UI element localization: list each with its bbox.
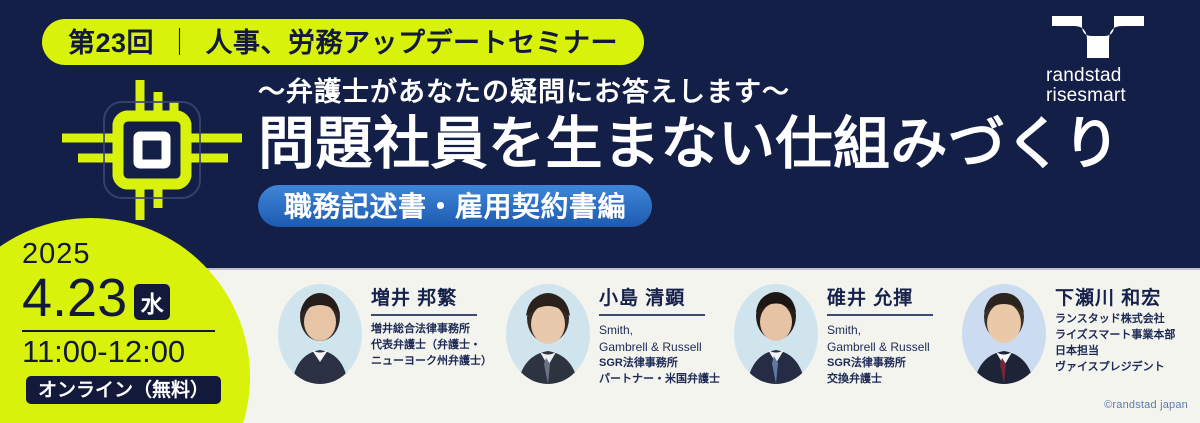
speaker-info: 下瀬川 和宏 ランスタッド株式会社 ライズスマート事業本部 日本担当 ヴァイスプ… xyxy=(1055,272,1175,376)
speaker-card: 碓井 允揮 Smith, Gambrell & Russell SGR法律事務所… xyxy=(734,272,962,423)
speaker-org-line: 増井総合法律事務所 xyxy=(371,322,492,338)
circuit-chip-icon xyxy=(62,80,242,220)
speaker-name: 増井 邦繁 xyxy=(371,289,492,308)
speaker-avatar xyxy=(278,284,362,384)
logo-product: risesmart xyxy=(1046,86,1178,106)
speaker-org-line: 交換弁護士 xyxy=(827,372,933,388)
speaker-avatar xyxy=(734,284,818,384)
logo-brand: randstad xyxy=(1046,66,1178,86)
seminar-banner: 第23回 ｜ 人事、労務アップデートセミナー ～弁護士が xyxy=(0,0,1200,423)
speaker-org-line: ランスタッド株式会社 xyxy=(1055,312,1175,328)
headline-subtopic-badge: 職務記述書・雇用契約書編 xyxy=(258,185,652,227)
speaker-info: 増井 邦繁 増井総合法律事務所 代表弁護士（弁護士・ ニューヨーク州弁護士） xyxy=(371,272,492,370)
speaker-org-line: 日本担当 xyxy=(1055,344,1175,360)
speaker-divider xyxy=(827,314,933,316)
speaker-info: 小島 清顕 Smith, Gambrell & Russell SGR法律事務所… xyxy=(599,272,720,387)
speaker-org-line: ニューヨーク州弁護士） xyxy=(371,354,492,370)
speaker-name: 下瀬川 和宏 xyxy=(1055,289,1175,308)
speaker-org: ランスタッド株式会社 ライズスマート事業本部 日本担当 ヴァイスプレジデント xyxy=(1055,312,1175,376)
speaker-name: 碓井 允揮 xyxy=(827,289,933,308)
speaker-org-line: SGR法律事務所 xyxy=(599,356,720,372)
speaker-avatar xyxy=(506,284,590,384)
speaker-divider xyxy=(371,314,477,316)
speakers-row: 増井 邦繁 増井総合法律事務所 代表弁護士（弁護士・ ニューヨーク州弁護士） xyxy=(278,272,1200,423)
event-date: 4.23 xyxy=(22,271,127,325)
event-format-badge: オンライン（無料） xyxy=(26,376,221,404)
speaker-card: 小島 清顕 Smith, Gambrell & Russell SGR法律事務所… xyxy=(506,272,734,423)
series-tag: 第23回 ｜ 人事、労務アップデートセミナー xyxy=(42,19,644,65)
speaker-info: 碓井 允揮 Smith, Gambrell & Russell SGR法律事務所… xyxy=(827,272,933,387)
speaker-org-line: Gambrell & Russell xyxy=(827,339,933,356)
speaker-org: 増井総合法律事務所 代表弁護士（弁護士・ ニューヨーク州弁護士） xyxy=(371,322,492,370)
speaker-org-line: Smith, xyxy=(827,322,933,339)
date-divider xyxy=(22,330,215,332)
series-separator: ｜ xyxy=(166,21,194,60)
event-time: 11:00-12:00 xyxy=(22,336,217,369)
speaker-org-line: ヴァイスプレジデント xyxy=(1055,360,1175,376)
headline-title: 問題社員を生まない仕組みづくり xyxy=(258,114,1138,176)
speaker-org: Smith, Gambrell & Russell SGR法律事務所 交換弁護士 xyxy=(827,322,933,387)
speaker-org-line: パートナー・米国弁護士 xyxy=(599,372,720,388)
copyright-notice: ©randstad japan xyxy=(1104,399,1188,411)
speaker-divider xyxy=(599,314,705,316)
speaker-name: 小島 清顕 xyxy=(599,289,720,308)
event-date-block: 2025 4.23 水 11:00-12:00 オンライン（無料） xyxy=(22,240,217,404)
headline-block: ～弁護士があなたの疑問にお答えします～ 問題社員を生まない仕組みづくり 職務記述… xyxy=(258,78,1138,227)
speaker-org-line: 代表弁護士（弁護士・ xyxy=(371,338,492,354)
speaker-org-line: SGR法律事務所 xyxy=(827,356,933,372)
event-day-of-week-badge: 水 xyxy=(134,284,170,320)
series-name: 人事、労務アップデートセミナー xyxy=(206,21,619,60)
speaker-org: Smith, Gambrell & Russell SGR法律事務所 パートナー… xyxy=(599,322,720,387)
series-edition: 第23回 xyxy=(68,21,154,60)
headline-kicker: ～弁護士があなたの疑問にお答えします～ xyxy=(258,78,1138,108)
randstad-logo: randstad risesmart xyxy=(1046,14,1178,106)
speaker-org-line: Smith, xyxy=(599,322,720,339)
speaker-card: 増井 邦繁 増井総合法律事務所 代表弁護士（弁護士・ ニューヨーク州弁護士） xyxy=(278,272,506,423)
speaker-org-line: Gambrell & Russell xyxy=(599,339,720,356)
event-year: 2025 xyxy=(22,240,217,269)
speaker-org-line: ライズスマート事業本部 xyxy=(1055,328,1175,344)
speaker-avatar xyxy=(962,284,1046,384)
randstad-mark-icon xyxy=(1050,14,1146,60)
